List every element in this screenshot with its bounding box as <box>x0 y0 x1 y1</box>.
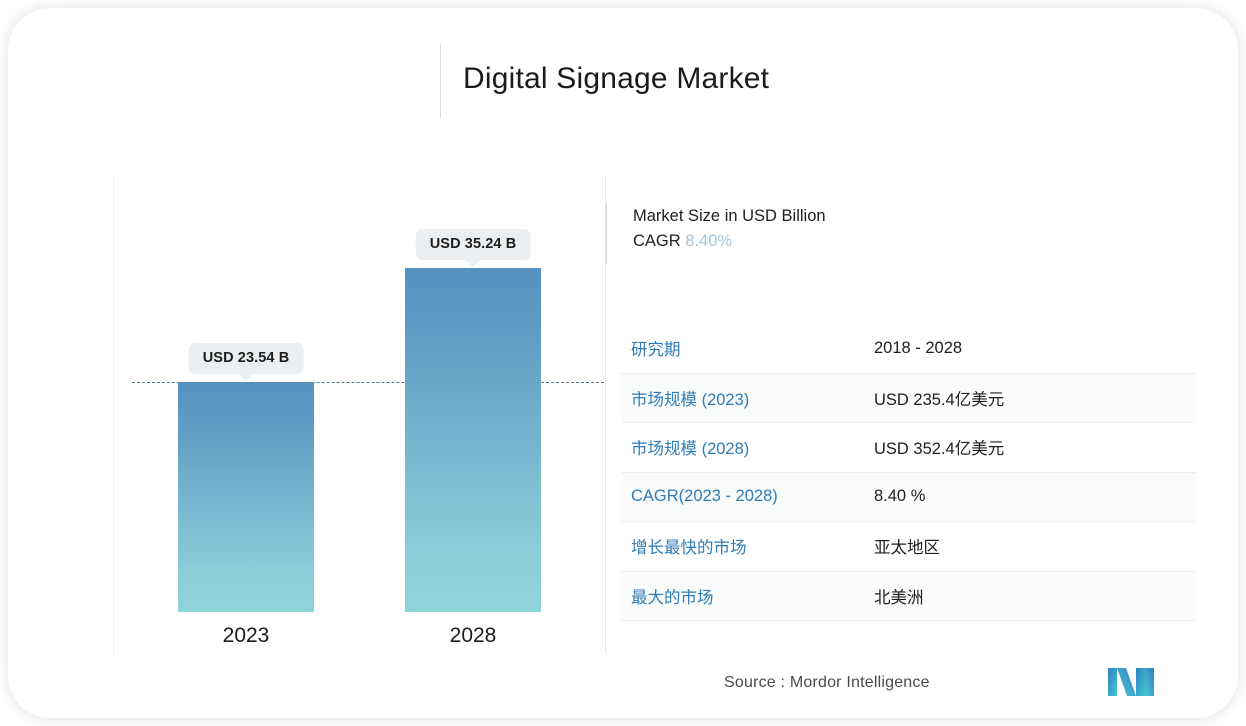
bar-series: USD 23.54 B USD 35.24 B 2023 2028 <box>114 176 598 654</box>
info-panel: Market Size in USD Billion CAGR 8.40% 研究… <box>605 176 1210 654</box>
table-row: 研究期 2018 - 2028 <box>621 324 1196 374</box>
table-row-label: 市场规模 (2023) <box>621 386 874 410</box>
bar-2028 <box>405 268 541 612</box>
table-row-value: USD 235.4亿美元 <box>874 386 1196 410</box>
summary-block: Market Size in USD Billion CAGR 8.40% <box>606 204 826 264</box>
table-row-label: 最大的市场 <box>621 584 874 608</box>
page-title: Digital Signage Market <box>463 62 769 96</box>
header: Digital Signage Market <box>8 36 1238 126</box>
footer: Source : Mordor Intelligence <box>724 660 1154 706</box>
x-axis-tick-2028: 2028 <box>403 612 543 654</box>
table-row-value: USD 352.4亿美元 <box>874 435 1196 459</box>
cagr-value: 8.40% <box>685 232 732 250</box>
source-text: Source : Mordor Intelligence <box>724 674 930 692</box>
infographic-card: Digital Signage Market USD 23.54 B USD 3… <box>8 8 1238 718</box>
table-row: 最大的市场 北美洲 <box>621 572 1196 622</box>
bar-2023 <box>178 382 314 612</box>
table-row: 增长最快的市场 亚太地区 <box>621 522 1196 572</box>
bar-chart: USD 23.54 B USD 35.24 B 2023 2028 <box>113 176 598 654</box>
spec-table: 研究期 2018 - 2028 市场规模 (2023) USD 235.4亿美元… <box>621 324 1196 621</box>
bar-value-label-2028: USD 35.24 B <box>416 229 531 260</box>
x-axis-label-2028: 2028 <box>403 624 543 648</box>
table-row-value: 8.40 % <box>874 487 1196 506</box>
table-row: CAGR(2023 - 2028) 8.40 % <box>621 473 1196 523</box>
table-row-value: 亚太地区 <box>874 534 1196 558</box>
cagr-caption: CAGR 8.40% <box>633 229 826 254</box>
mordor-intelligence-logo <box>1108 668 1154 696</box>
market-size-caption: Market Size in USD Billion <box>633 204 826 229</box>
table-row: 市场规模 (2028) USD 352.4亿美元 <box>621 423 1196 473</box>
table-row-label: 市场规模 (2028) <box>621 435 874 459</box>
table-row: 市场规模 (2023) USD 235.4亿美元 <box>621 374 1196 424</box>
table-row-label: 增长最快的市场 <box>621 534 874 558</box>
x-axis-label-2023: 2023 <box>176 624 316 648</box>
table-row-value: 北美洲 <box>874 584 1196 608</box>
x-axis-tick-2023: 2023 <box>176 612 316 654</box>
table-row-label: CAGR(2023 - 2028) <box>621 487 874 506</box>
table-row-label: 研究期 <box>621 336 874 360</box>
table-row-value: 2018 - 2028 <box>874 339 1196 358</box>
bar-value-label-2023: USD 23.54 B <box>189 343 304 374</box>
cagr-label: CAGR <box>633 232 681 250</box>
title-divider <box>440 44 441 118</box>
